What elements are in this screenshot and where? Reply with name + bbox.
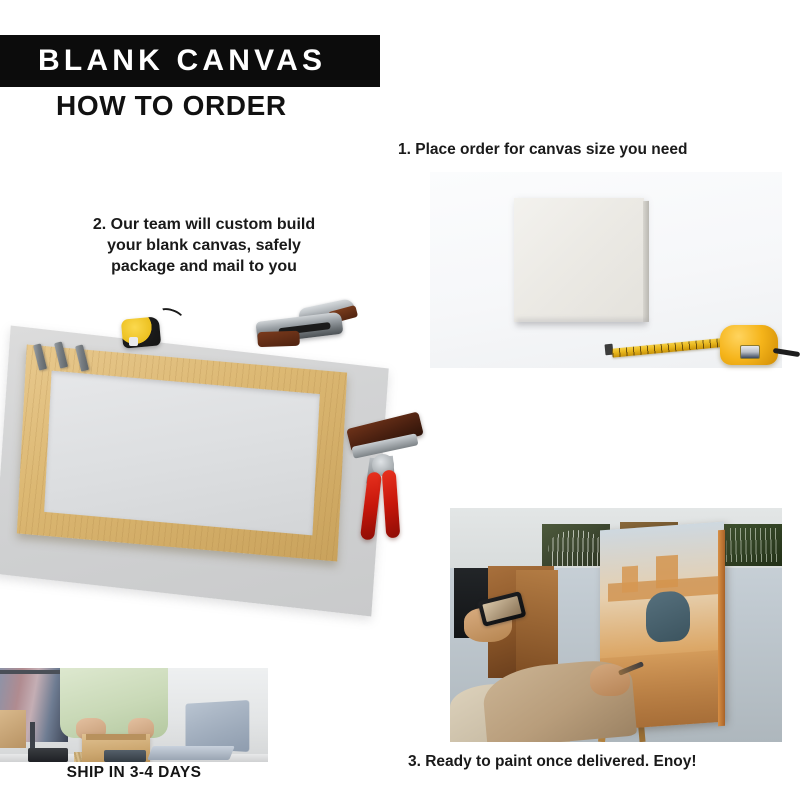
wall-art-texture	[548, 530, 604, 566]
step-2-caption: 2. Our team will custom build your blank…	[30, 214, 378, 277]
plier-red-handle	[382, 470, 401, 539]
canvas-shadow	[516, 319, 648, 328]
clothing-rack-bar	[0, 670, 68, 674]
painted-canvas-edge	[718, 530, 725, 726]
smartphone-screen	[482, 596, 521, 622]
staple-gun-wood-handle	[257, 331, 299, 347]
shipping-caption: SHIP IN 3-4 DAYS	[0, 764, 268, 782]
step-3-caption: 3. Ready to paint once delivered. Enoy!	[408, 752, 794, 772]
frame-inner-panel	[44, 371, 320, 536]
infographic-page: BLANK CANVAS HOW TO ORDER 1. Place order…	[0, 0, 800, 800]
tape-measure-lock-window	[740, 345, 760, 359]
painting-building	[656, 555, 678, 589]
step-2-caption-line-1: 2. Our team will custom build	[30, 214, 378, 235]
laptop-screen	[186, 700, 250, 752]
step-2-caption-line-2: your blank canvas, safely	[30, 235, 378, 256]
wooden-stretcher-frame	[17, 344, 347, 561]
painting-figure	[646, 590, 690, 643]
plier-red-handle	[360, 471, 382, 540]
stacked-cardboard-box	[0, 710, 26, 748]
laptop-keyboard	[147, 746, 235, 760]
clothing-rack-stand	[30, 722, 35, 748]
canvas-side-edge	[643, 201, 649, 322]
canvas-plier-icon	[342, 420, 428, 548]
wall-art-texture	[726, 528, 778, 562]
blank-canvas-board	[514, 198, 644, 322]
title-bar: BLANK CANVAS	[0, 35, 380, 87]
wood-wall-panel	[516, 570, 558, 678]
cardboard-box-flap	[86, 734, 146, 740]
wall-art-piece	[722, 524, 782, 566]
desk-phone-icon	[104, 750, 146, 762]
page-title: BLANK CANVAS	[0, 46, 326, 76]
small-tape-measure-body	[121, 316, 161, 348]
step-3-photo-artist-painting	[450, 508, 782, 742]
page-subtitle: HOW TO ORDER	[56, 90, 287, 122]
step-1-caption: 1. Place order for canvas size you need	[398, 140, 798, 160]
small-tape-measure-window	[129, 337, 138, 346]
step-2-caption-line-3: package and mail to you	[30, 256, 378, 277]
painting-building	[622, 566, 638, 593]
calculator-icon	[28, 748, 68, 762]
shipping-photo-packing-box	[0, 668, 268, 762]
